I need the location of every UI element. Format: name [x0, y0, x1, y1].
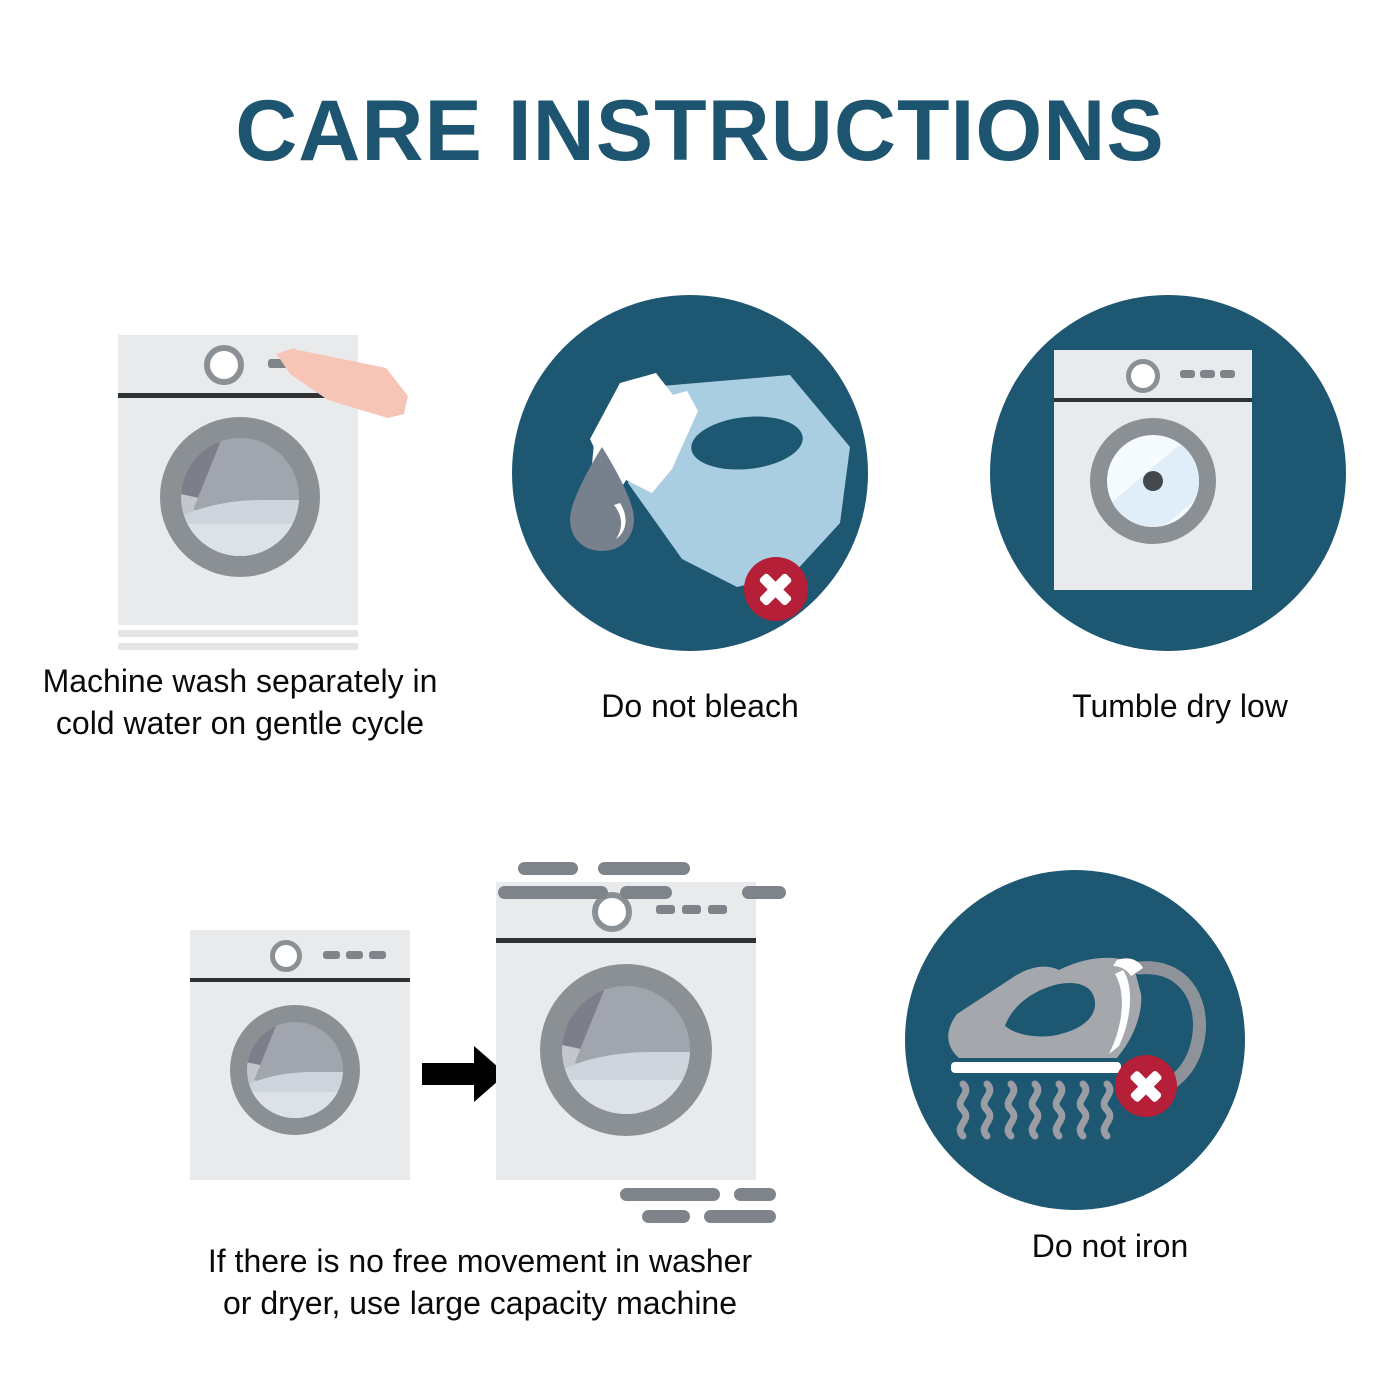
motion-dash-bottom-4	[704, 1210, 776, 1223]
caption-do-not-bleach: Do not bleach	[480, 685, 920, 727]
caption-line-1: Tumble dry low	[960, 685, 1400, 727]
washer-floor-line-1	[118, 630, 358, 637]
tumble-dry-badge-circle	[990, 295, 1346, 651]
instruction-large-capacity-machine: If there is no free movement in washer o…	[100, 850, 860, 1320]
caption-line-1: Machine wash separately in	[0, 660, 480, 702]
glass-shade-pale	[247, 1092, 343, 1118]
dryer-knob-icon	[1126, 359, 1160, 393]
large-washer-button-3	[708, 905, 727, 914]
washer-floor-line-2	[118, 643, 358, 650]
pointing-hand-icon	[268, 348, 413, 438]
small-washer-button-3	[369, 951, 386, 959]
large-washer-panel-divider	[496, 938, 756, 943]
small-washer-knob-icon	[270, 940, 302, 972]
small-washer-drum-glass	[247, 1022, 343, 1118]
motion-dash-bottom-2	[734, 1188, 776, 1201]
motion-dash-top-4	[620, 886, 672, 899]
instruction-do-not-iron: Do not iron	[890, 860, 1330, 1300]
dryer-button-2	[1200, 370, 1215, 378]
motion-dash-bottom-1	[620, 1188, 720, 1201]
large-washer-drum-glass	[562, 986, 690, 1114]
small-washer-panel-divider	[190, 978, 410, 982]
motion-dash-bottom-3	[642, 1210, 690, 1223]
glass-shade-pale	[562, 1080, 690, 1114]
dryer-button-3	[1220, 370, 1235, 378]
caption-tumble-dry-low: Tumble dry low	[960, 685, 1400, 727]
large-washer-button-1	[656, 905, 675, 914]
small-washer-drum-ring	[230, 1005, 360, 1135]
dryer-center-dot	[1143, 471, 1163, 491]
caption-large-capacity-machine: If there is no free movement in washer o…	[70, 1240, 890, 1324]
iron-badge-circle	[905, 870, 1245, 1210]
arrow-shaft	[422, 1063, 476, 1085]
dryer-panel-divider	[1054, 398, 1252, 402]
steam-iron-icon	[927, 942, 1232, 1142]
large-washer-drum-ring	[540, 964, 712, 1136]
water-droplet-icon	[562, 445, 642, 555]
motion-dash-top-1	[518, 862, 578, 875]
caption-machine-wash: Machine wash separately in cold water on…	[0, 660, 480, 744]
caption-line-1: Do not iron	[890, 1225, 1330, 1267]
caption-line-2: or dryer, use large capacity machine	[70, 1282, 890, 1324]
prohibition-badge-iron	[1115, 1055, 1177, 1117]
large-washer-button-2	[682, 905, 701, 914]
small-washer-button-2	[346, 951, 363, 959]
washer-drum-ring	[160, 417, 320, 577]
caption-line-1: If there is no free movement in washer	[70, 1240, 890, 1282]
motion-dash-top-3	[498, 886, 608, 899]
small-washer-icon	[190, 930, 410, 1180]
tumble-dryer-icon	[1054, 350, 1252, 590]
glass-shade-pale	[181, 524, 299, 556]
dryer-drum-glass	[1107, 435, 1199, 527]
caption-line-2: cold water on gentle cycle	[0, 702, 480, 744]
instruction-machine-wash: Machine wash separately in cold water on…	[0, 290, 480, 750]
dryer-drum-ring	[1090, 418, 1216, 544]
instruction-do-not-bleach: Do not bleach	[480, 290, 920, 750]
large-washer-icon	[496, 882, 756, 1180]
instruction-tumble-dry-low: Tumble dry low	[960, 290, 1400, 750]
bleach-badge-circle	[512, 295, 868, 651]
motion-dash-top-5	[742, 886, 786, 899]
prohibition-badge-bleach	[744, 557, 808, 621]
washer-knob-icon	[204, 345, 244, 385]
motion-dash-top-2	[598, 862, 690, 875]
caption-do-not-iron: Do not iron	[890, 1225, 1330, 1267]
washer-drum-glass	[181, 438, 299, 556]
small-washer-button-1	[323, 951, 340, 959]
page-title: CARE INSTRUCTIONS	[0, 88, 1400, 174]
dryer-button-1	[1180, 370, 1195, 378]
caption-line-1: Do not bleach	[480, 685, 920, 727]
